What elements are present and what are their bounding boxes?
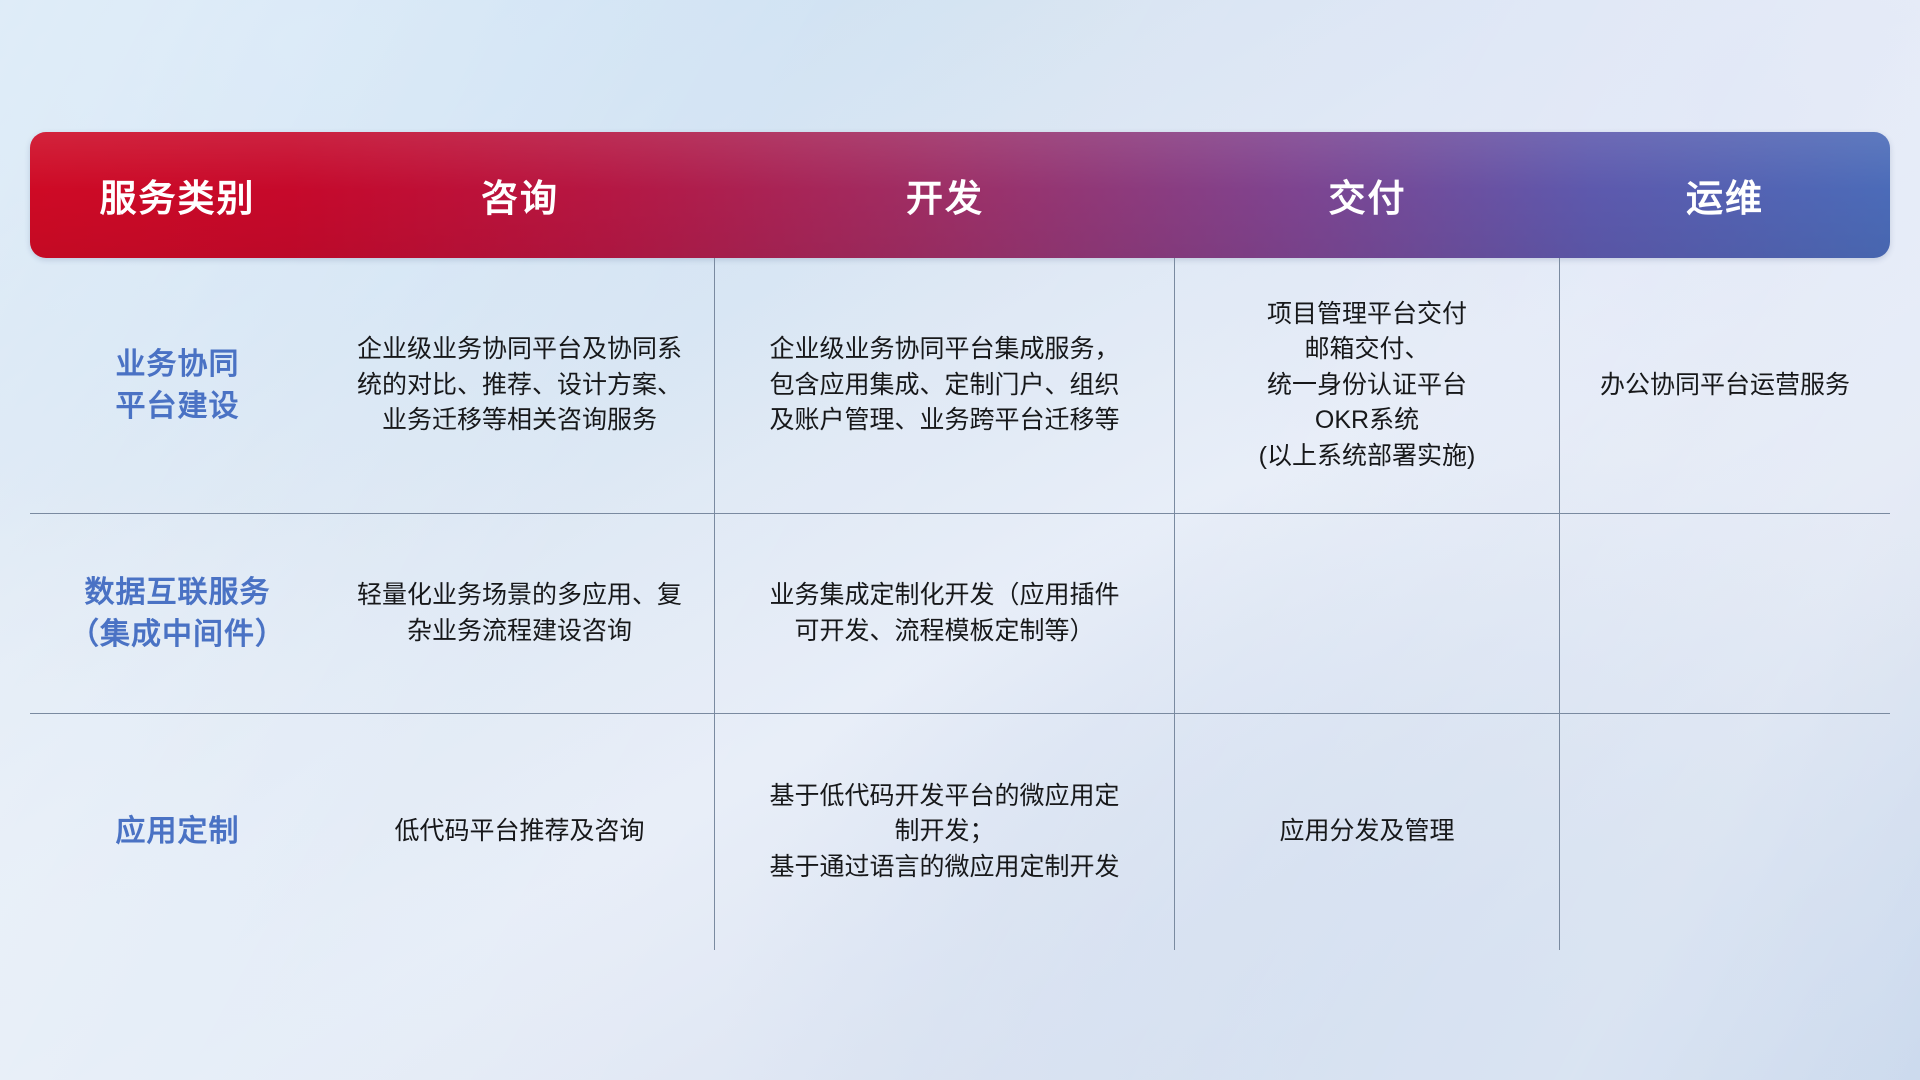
header-cell-consulting: 咨询 (325, 168, 715, 222)
table-body: 业务协同 平台建设 企业级业务协同平台及协同系 统的对比、推荐、设计方案、 业务… (30, 258, 1890, 950)
cell-consulting: 低代码平台推荐及咨询 (325, 713, 715, 950)
header-cell-category: 服务类别 (30, 168, 325, 222)
cell-development: 企业级业务协同平台集成服务， 包含应用集成、定制门户、组织 及账户管理、业务跨平… (715, 258, 1175, 513)
table-header-row: 服务类别 咨询 开发 交付 运维 (30, 132, 1890, 258)
cell-operations (1560, 713, 1890, 950)
header-cell-delivery: 交付 (1175, 168, 1560, 222)
header-cell-development: 开发 (715, 168, 1175, 222)
table-row: 应用定制 低代码平台推荐及咨询 基于低代码开发平台的微应用定 制开发； 基于通过… (30, 713, 1890, 950)
table-row: 业务协同 平台建设 企业级业务协同平台及协同系 统的对比、推荐、设计方案、 业务… (30, 258, 1890, 513)
cell-operations: 办公协同平台运营服务 (1560, 258, 1890, 513)
cell-delivery (1175, 513, 1560, 713)
cell-delivery: 项目管理平台交付 邮箱交付、 统一身份认证平台 OKR系统 (以上系统部署实施) (1175, 258, 1560, 513)
table-row: 数据互联服务 （集成中间件） 轻量化业务场景的多应用、复 杂业务流程建设咨询 业… (30, 513, 1890, 713)
cell-consulting: 企业级业务协同平台及协同系 统的对比、推荐、设计方案、 业务迁移等相关咨询服务 (325, 258, 715, 513)
cell-development: 基于低代码开发平台的微应用定 制开发； 基于通过语言的微应用定制开发 (715, 713, 1175, 950)
header-cell-operations: 运维 (1560, 168, 1890, 222)
row-label-business-collaboration: 业务协同 平台建设 (30, 258, 325, 513)
cell-consulting: 轻量化业务场景的多应用、复 杂业务流程建设咨询 (325, 513, 715, 713)
row-label-data-interconnect: 数据互联服务 （集成中间件） (30, 513, 325, 713)
cell-delivery: 应用分发及管理 (1175, 713, 1560, 950)
cell-operations (1560, 513, 1890, 713)
row-label-app-customization: 应用定制 (30, 713, 325, 950)
cell-development: 业务集成定制化开发（应用插件 可开发、流程模板定制等） (715, 513, 1175, 713)
service-category-table: 服务类别 咨询 开发 交付 运维 业务协同 平台建设 企业级业务协同平台及协同系… (30, 132, 1890, 950)
